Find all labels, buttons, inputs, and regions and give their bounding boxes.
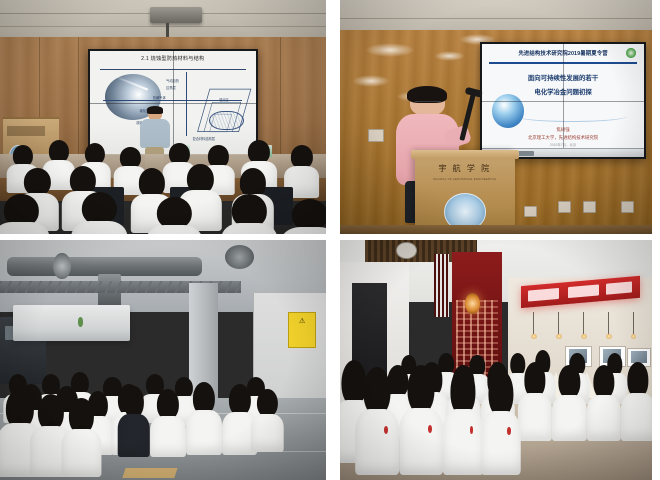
presentation-screen: 先进结构技术研究院2019暑期夏令营 面向可持续性发展的若干 电化学冶金问题初探…	[480, 42, 645, 159]
audience-member	[0, 194, 49, 234]
student	[586, 365, 620, 439]
lectern-label-en: SCHOOL OF AEROSPACE ENGINEERING	[415, 178, 515, 181]
photo-collage: 2.1 烧蚀型防热材料与结构 气动加热 边界层 热解气体 碳化层 原始材料 复合…	[0, 0, 660, 480]
projector-icon	[150, 7, 202, 23]
machine-housing	[13, 305, 130, 341]
student	[186, 382, 222, 454]
wall-outlet	[524, 206, 537, 217]
student	[150, 389, 186, 456]
photo-lecture-hall: 2.1 烧蚀型防热材料与结构 气动加热 边界层 热解气体 碳化层 原始材料 复合…	[0, 0, 326, 234]
student	[480, 370, 521, 473]
wall-outlet	[368, 129, 384, 143]
photo-lab-tour	[0, 240, 326, 480]
floor-board	[122, 468, 177, 478]
ceiling-vent	[225, 245, 254, 269]
lectern-label-cn: 宇 航 学 院	[415, 163, 515, 174]
wall-outlet	[621, 201, 634, 212]
student	[518, 362, 552, 439]
student	[399, 365, 443, 473]
wall-outlet	[558, 201, 571, 212]
photo-exhibition-tour	[340, 240, 652, 480]
institute-logo-icon	[626, 48, 636, 58]
student	[251, 389, 284, 451]
student	[356, 367, 400, 473]
photo-keynote-speaker: 先进结构技术研究院2019暑期夏令营 面向可持续性发展的若干 电化学冶金问题初探…	[340, 0, 652, 234]
student	[621, 362, 652, 439]
floor	[340, 225, 652, 234]
wall-outlet	[583, 201, 596, 212]
hazard-sign-icon	[288, 312, 316, 348]
clock-icon	[396, 242, 417, 258]
audience-member	[222, 194, 277, 234]
audience-member	[280, 199, 326, 234]
audience-member	[72, 192, 127, 234]
lectern: 宇 航 学 院 SCHOOL OF AEROSPACE ENGINEERING	[415, 150, 515, 234]
audience-member	[147, 197, 202, 234]
student	[443, 367, 484, 473]
slide-label-2: 热解气体	[153, 95, 166, 100]
student	[552, 365, 586, 439]
wall-slats	[434, 254, 450, 316]
slide-label-7: 驻点区	[219, 97, 229, 102]
glasses-icon	[415, 101, 441, 106]
student-staff	[117, 386, 150, 456]
slide-label-1: 边界层	[166, 85, 176, 90]
student	[62, 398, 101, 475]
ceiling	[340, 0, 652, 33]
